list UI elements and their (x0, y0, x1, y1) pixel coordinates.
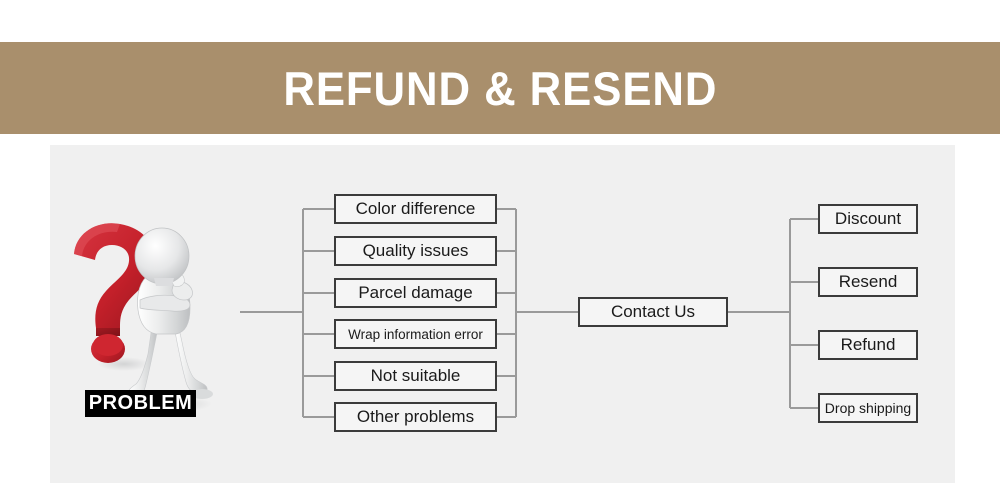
solution-box-refund[interactable]: Refund (818, 330, 918, 360)
page-title: REFUND & RESEND (283, 65, 717, 112)
cause-box-wrap-information-error[interactable]: Wrap information error (334, 319, 497, 349)
cause-box-color-difference[interactable]: Color difference (334, 194, 497, 224)
cause-box-parcel-damage[interactable]: Parcel damage (334, 278, 497, 308)
cause-label: Wrap information error (348, 327, 483, 342)
solution-label: Refund (841, 335, 896, 355)
solution-box-discount[interactable]: Discount (818, 204, 918, 234)
solution-label: Discount (835, 209, 901, 229)
cause-box-other-problems[interactable]: Other problems (334, 402, 497, 432)
solution-label: Drop shipping (825, 400, 911, 416)
cause-box-not-suitable[interactable]: Not suitable (334, 361, 497, 391)
cause-label: Color difference (356, 199, 476, 219)
cause-label: Quality issues (363, 241, 469, 261)
contact-us-label: Contact Us (611, 302, 695, 322)
solution-box-drop-shipping[interactable]: Drop shipping (818, 393, 918, 423)
solution-box-resend[interactable]: Resend (818, 267, 918, 297)
solution-label: Resend (839, 272, 898, 292)
problem-label: PROBLEM (85, 390, 196, 417)
contact-us-box[interactable]: Contact Us (578, 297, 728, 327)
cause-label: Not suitable (371, 366, 461, 386)
cause-label: Other problems (357, 407, 474, 427)
header-banner: REFUND & RESEND (0, 42, 1000, 134)
cause-box-quality-issues[interactable]: Quality issues (334, 236, 497, 266)
cause-label: Parcel damage (358, 283, 472, 303)
